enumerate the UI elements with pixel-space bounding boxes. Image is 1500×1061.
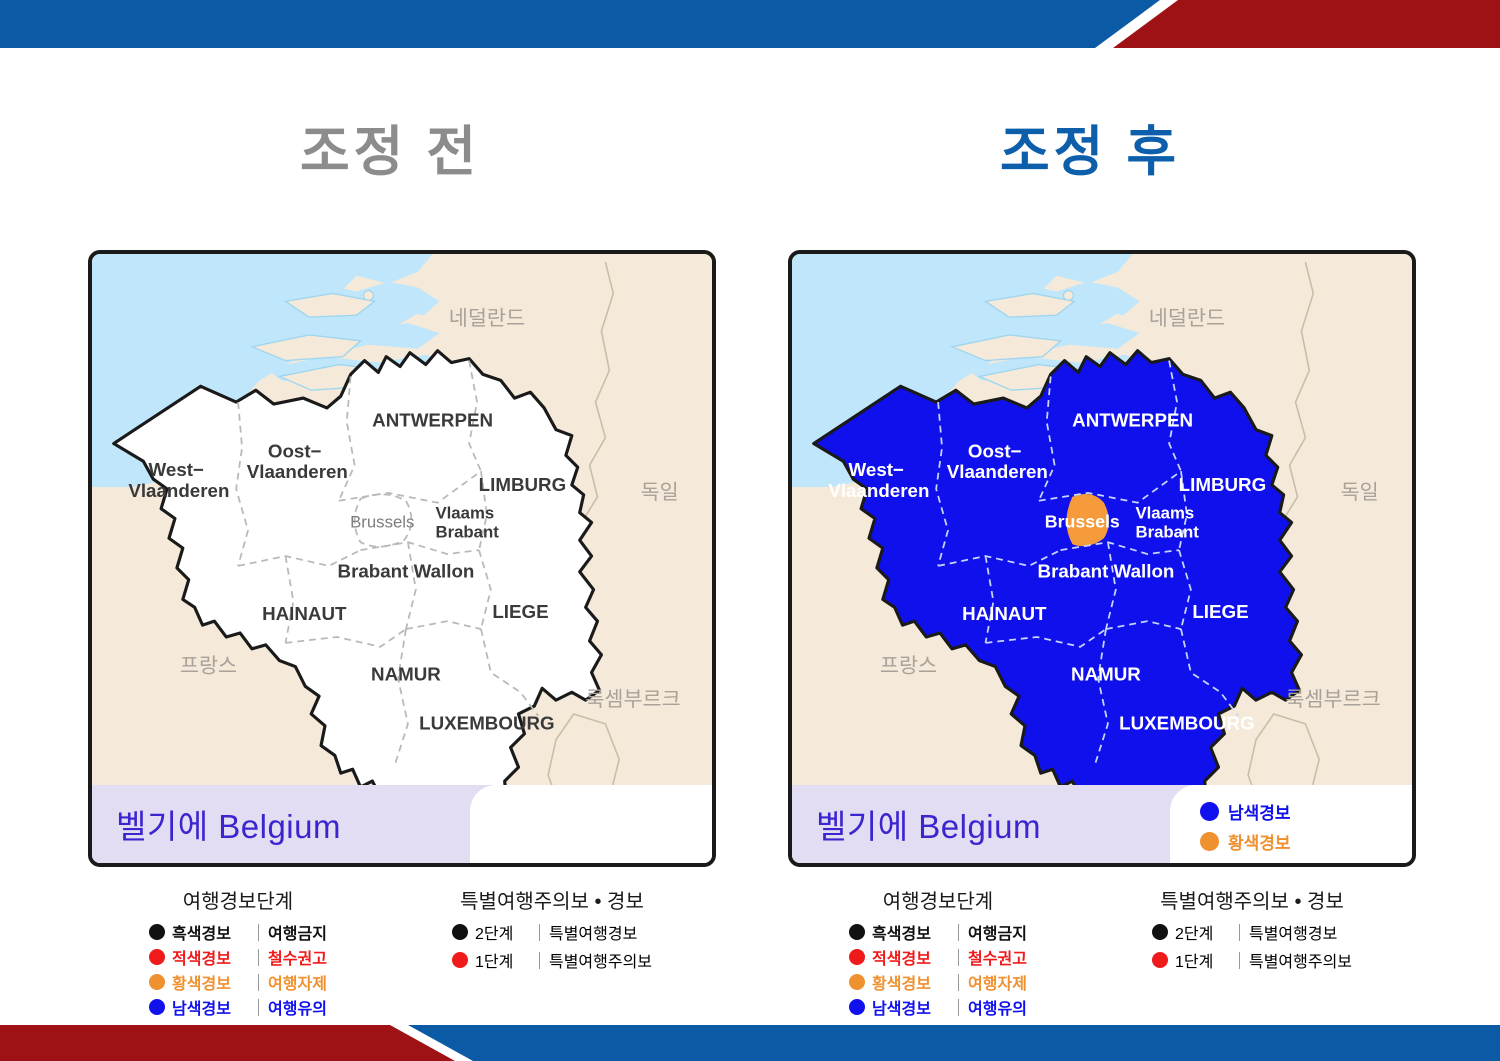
legend-divider	[958, 924, 959, 941]
province-label-vlaams-brabant: Vlaams Brabant	[1135, 504, 1199, 542]
legend-level-desc: 여행금지	[268, 920, 327, 944]
alert-dot-orange-icon	[849, 974, 865, 990]
legend-divider	[258, 974, 259, 991]
poster-root: 조정 전	[0, 0, 1500, 1061]
legend-row: 1단계 특별여행주의보	[1152, 948, 1352, 972]
tspan-vlaams: Vlaams	[1135, 504, 1194, 523]
legend-level-desc: 철수권고	[968, 945, 1027, 969]
legend-special-heading: 특별여행주의보 • 경보	[460, 885, 644, 914]
province-label-hainaut: HAINAUT	[262, 603, 347, 624]
legend-divider	[539, 924, 540, 941]
legend-special-name: 2단계	[475, 920, 537, 944]
alert-dot-red-icon	[849, 949, 865, 965]
top-banner-blue-shape	[0, 0, 1160, 48]
legend-level-name: 흑색경보	[872, 920, 956, 944]
tspan-brabant: Brabant	[435, 522, 499, 541]
belgium-map-after[interactable]: West− Vlaanderen Oost− Vlaanderen ANTWER…	[792, 254, 1412, 863]
tspan-vlaams: Vlaams	[435, 504, 494, 523]
legend-level-name: 황색경보	[872, 970, 956, 994]
map-legend-box-before	[470, 785, 716, 867]
legend-divider	[539, 952, 540, 969]
alert-dot-red-icon	[149, 949, 165, 965]
province-label-antwerpen: ANTWERPEN	[1072, 410, 1193, 431]
neighbour-label-luxembourg: 룩셈부르크	[1285, 687, 1380, 711]
panel-title-before: 조정 전	[40, 95, 740, 195]
legend-levels-before: 여행경보단계 흑색경보 여행금지 적색경보 철수권고	[88, 885, 388, 995]
neighbour-label-netherlands: 네덜란드	[1149, 306, 1225, 330]
province-label-liege: LIEGE	[492, 601, 548, 622]
legend-row: 적색경보 철수권고	[149, 945, 327, 969]
legend-area-before: 여행경보단계 흑색경보 여행금지 적색경보 철수권고	[88, 885, 716, 995]
province-label-limburg: LIMBURG	[1179, 474, 1267, 495]
legend-level-desc: 여행금지	[968, 920, 1027, 944]
neighbour-label-france: 프랑스	[180, 654, 237, 678]
map-legend-box-after: 남색경보 황색경보	[1170, 785, 1416, 867]
bottom-banner-blue-shape	[408, 1025, 1500, 1061]
bottom-banner	[0, 1011, 1500, 1061]
legend-levels-heading: 여행경보단계	[183, 885, 293, 914]
legend-special-heading: 특별여행주의보 • 경보	[1160, 885, 1344, 914]
province-label-luxembourg: LUXEMBOURG	[419, 713, 554, 734]
tspan-west: West−	[149, 459, 204, 480]
neighbour-label-luxembourg: 룩셈부르크	[585, 687, 680, 711]
map-card-before[interactable]: West− Vlaanderen Oost− Vlaanderen ANTWER…	[88, 250, 716, 867]
legend-level-name: 적색경보	[872, 945, 956, 969]
tspan-west: West−	[849, 459, 904, 480]
legend-special-name: 2단계	[1175, 920, 1237, 944]
map-legend-label: 황색경보	[1228, 829, 1291, 854]
bottom-banner-red-shape	[0, 1025, 455, 1061]
legend-special-name: 1단계	[475, 948, 537, 972]
province-label-liege: LIEGE	[1192, 601, 1248, 622]
legend-row: 황색경보 여행자제	[149, 970, 327, 994]
legend-row: 2단계 특별여행경보	[452, 920, 652, 944]
legend-divider	[258, 949, 259, 966]
legend-row: 황색경보 여행자제	[849, 970, 1027, 994]
bottom-banner-graphic	[0, 1011, 1500, 1061]
province-label-antwerpen: ANTWERPEN	[372, 410, 493, 431]
legend-level-name: 황색경보	[172, 970, 256, 994]
map-legend-item: 황색경보	[1200, 829, 1416, 854]
legend-levels-after: 여행경보단계 흑색경보 여행금지 적색경보 철수권고	[788, 885, 1088, 995]
province-label-limburg: LIMBURG	[479, 474, 567, 495]
alert-dot-black-icon	[849, 924, 865, 940]
alert-dot-black-icon	[149, 924, 165, 940]
legend-divider	[1239, 924, 1240, 941]
legend-special-desc: 특별여행주의보	[549, 948, 652, 972]
legend-divider	[258, 924, 259, 941]
province-label-brabant-wallon: Brabant Wallon	[338, 561, 475, 582]
country-name-before: 벨기에 Belgium	[92, 800, 341, 848]
legend-special-before: 특별여행주의보 • 경보 2단계 특별여행경보 1단계 특별여행주의보	[388, 885, 716, 995]
top-banner	[0, 0, 1500, 48]
legend-row: 1단계 특별여행주의보	[452, 948, 652, 972]
province-label-brussels: Brussels	[350, 512, 414, 531]
top-banner-red-shape	[1113, 0, 1500, 48]
map-card-after[interactable]: West− Vlaanderen Oost− Vlaanderen ANTWER…	[788, 250, 1416, 867]
panel-after: 조정 후	[740, 95, 1440, 995]
tspan-vlaanderen1: Vlaanderen	[128, 480, 229, 501]
neighbour-label-germany: 독일	[641, 480, 679, 504]
province-label-hainaut: HAINAUT	[962, 603, 1047, 624]
legend-row: 2단계 특별여행경보	[1152, 920, 1352, 944]
panel-before: 조정 전	[40, 95, 740, 995]
neighbour-label-netherlands: 네덜란드	[449, 306, 525, 330]
top-banner-graphic	[0, 0, 1500, 48]
tspan-brabant: Brabant	[1135, 522, 1199, 541]
legend-special-desc: 특별여행경보	[549, 920, 637, 944]
province-label-namur: NAMUR	[371, 663, 441, 684]
legend-level-name: 적색경보	[172, 945, 256, 969]
legend-divider	[958, 949, 959, 966]
legend-level-name: 흑색경보	[172, 920, 256, 944]
legend-level-desc: 철수권고	[268, 945, 327, 969]
legend-special-after: 특별여행주의보 • 경보 2단계 특별여행경보 1단계 특별여행주의보	[1088, 885, 1416, 995]
neighbour-label-germany: 독일	[1341, 480, 1379, 504]
neighbour-label-france: 프랑스	[880, 654, 937, 678]
special-dot-black-icon	[452, 924, 468, 940]
special-dot-black-icon	[1152, 924, 1168, 940]
country-name-after: 벨기에 Belgium	[792, 800, 1041, 848]
legend-special-desc: 특별여행주의보	[1249, 948, 1352, 972]
legend-special-name: 1단계	[1175, 948, 1237, 972]
legend-row: 적색경보 철수권고	[849, 945, 1027, 969]
special-dot-red-icon	[452, 952, 468, 968]
legend-divider	[958, 974, 959, 991]
legend-level-desc: 여행자제	[268, 970, 327, 994]
belgium-map-before[interactable]: West− Vlaanderen Oost− Vlaanderen ANTWER…	[92, 254, 712, 863]
legend-levels-heading: 여행경보단계	[883, 885, 993, 914]
legend-row: 흑색경보 여행금지	[149, 920, 327, 944]
province-label-namur: NAMUR	[1071, 663, 1141, 684]
special-dot-red-icon	[1152, 952, 1168, 968]
map-legend-dot-blue-icon	[1200, 802, 1219, 821]
map-legend-item: 남색경보	[1200, 799, 1416, 824]
tspan-vlaanderen2: Vlaanderen	[947, 461, 1048, 482]
province-label-brussels: Brussels	[1045, 511, 1120, 531]
country-name-bar-before: 벨기에 Belgium	[92, 785, 712, 863]
tspan-vlaanderen1: Vlaanderen	[828, 480, 929, 501]
country-name-bar-after: 벨기에 Belgium 남색경보 황색경보	[792, 785, 1412, 863]
province-label-vlaams-brabant: Vlaams Brabant	[435, 504, 499, 542]
tspan-oost: Oost−	[968, 440, 1022, 461]
province-label-brabant-wallon: Brabant Wallon	[1038, 561, 1175, 582]
legend-area-after: 여행경보단계 흑색경보 여행금지 적색경보 철수권고	[788, 885, 1416, 995]
tspan-oost: Oost−	[268, 440, 322, 461]
province-label-luxembourg: LUXEMBOURG	[1119, 713, 1254, 734]
legend-row: 흑색경보 여행금지	[849, 920, 1027, 944]
legend-divider	[1239, 952, 1240, 969]
tspan-vlaanderen2: Vlaanderen	[247, 461, 348, 482]
legend-level-desc: 여행자제	[968, 970, 1027, 994]
map-legend-dot-orange-icon	[1200, 832, 1219, 851]
alert-dot-orange-icon	[149, 974, 165, 990]
legend-special-desc: 특별여행경보	[1249, 920, 1337, 944]
panel-title-after: 조정 후	[740, 95, 1440, 195]
map-legend-label: 남색경보	[1228, 799, 1291, 824]
